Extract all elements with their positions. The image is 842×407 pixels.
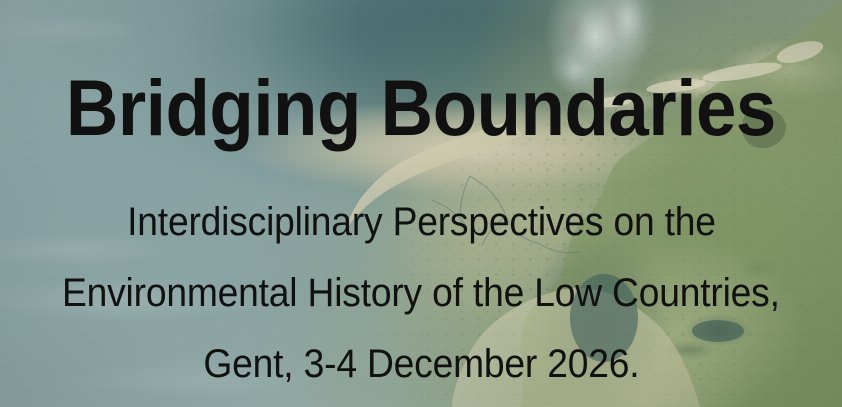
banner-headline: Bridging Boundaries — [66, 68, 776, 147]
conference-banner: Bridging Boundaries Interdisciplinary Pe… — [0, 0, 842, 407]
banner-subtitle-line-3: Gent, 3-4 December 2026. — [203, 344, 639, 384]
banner-subtitle-line-2: Environmental History of the Low Countri… — [62, 273, 780, 313]
banner-subtitle-line-1: Interdisciplinary Perspectives on the — [127, 202, 716, 242]
banner-text-block: Bridging Boundaries Interdisciplinary Pe… — [0, 0, 842, 407]
